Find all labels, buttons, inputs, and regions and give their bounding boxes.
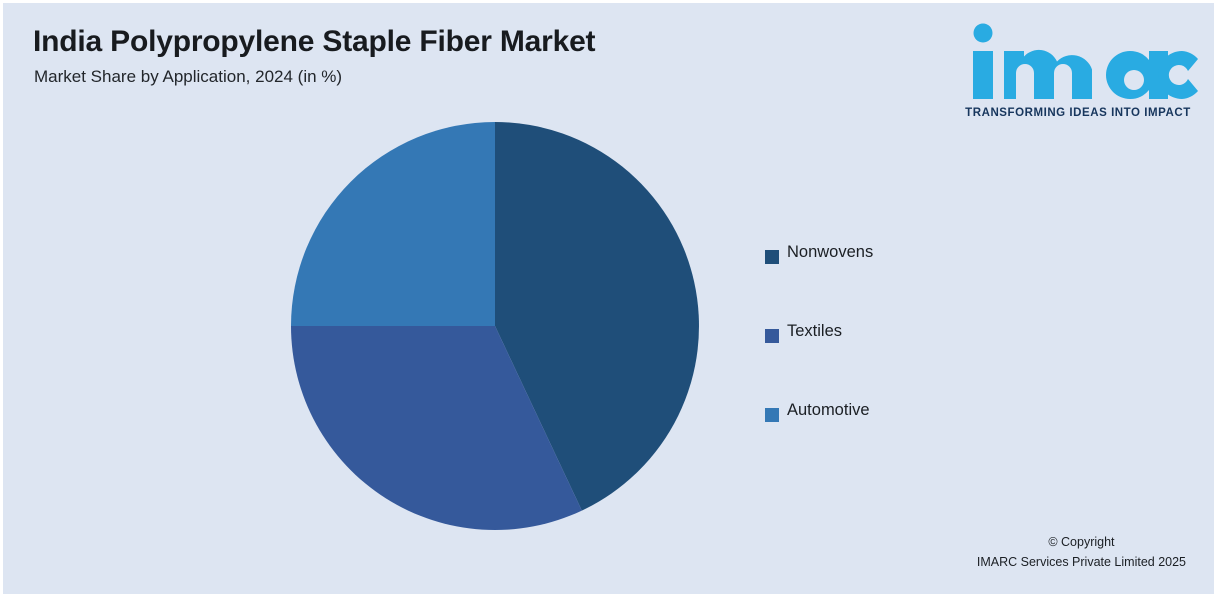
chart-figure: India Polypropylene Staple Fiber Market … [3, 3, 1214, 594]
copyright-line-1: © Copyright [977, 533, 1186, 552]
legend-item-nonwovens[interactable]: Nonwovens [765, 243, 995, 322]
legend-item-automotive[interactable]: Automotive [765, 401, 995, 480]
legend-label: Automotive [787, 401, 870, 420]
imarc-wordmark-icon [958, 21, 1198, 99]
legend-label: Nonwovens [787, 243, 873, 262]
pie-slice-automotive [291, 122, 495, 326]
logo-tagline: TRANSFORMING IDEAS INTO IMPACT [958, 107, 1198, 119]
legend-swatch-icon [765, 408, 779, 422]
page-subtitle: Market Share by Application, 2024 (in %) [34, 67, 342, 87]
legend-label: Textiles [787, 322, 842, 341]
page-title: India Polypropylene Staple Fiber Market [33, 25, 595, 59]
legend-item-textiles[interactable]: Textiles [765, 322, 995, 401]
legend-swatch-icon [765, 250, 779, 264]
copyright-line-2: IMARC Services Private Limited 2025 [977, 553, 1186, 572]
pie-chart [288, 119, 702, 533]
copyright-notice: © Copyright IMARC Services Private Limit… [977, 533, 1186, 572]
chart-legend: Nonwovens Textiles Automotive [765, 243, 995, 480]
imarc-logo: TRANSFORMING IDEAS INTO IMPACT [958, 21, 1198, 121]
legend-swatch-icon [765, 329, 779, 343]
pie-chart-svg [288, 119, 702, 533]
